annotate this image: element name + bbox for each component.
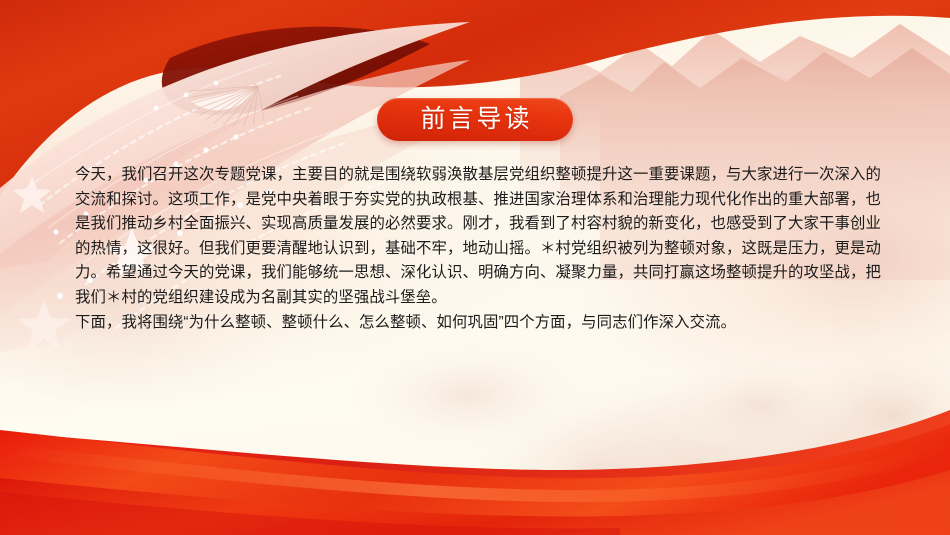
section-title-text: 前言导读 — [417, 107, 532, 132]
body-text-block: 今天，我们召开这次专题党课，主要目的就是围绕软弱涣散基层党组织整顿提升这一重要课… — [75, 163, 881, 335]
body-paragraph-2: 下面，我将围绕“为什么整顿、整顿什么、怎么整顿、如何巩固”四个方面，与同志们作深… — [75, 311, 881, 336]
body-paragraph-1: 今天，我们召开这次专题党课，主要目的就是围绕软弱涣散基层党组织整顿提升这一重要课… — [75, 163, 881, 311]
section-title-pill: 前言导读 — [377, 98, 573, 141]
slide-canvas: 前言导读 今天，我们召开这次专题党课，主要目的就是围绕软弱涣散基层党组织整顿提升… — [0, 0, 950, 535]
